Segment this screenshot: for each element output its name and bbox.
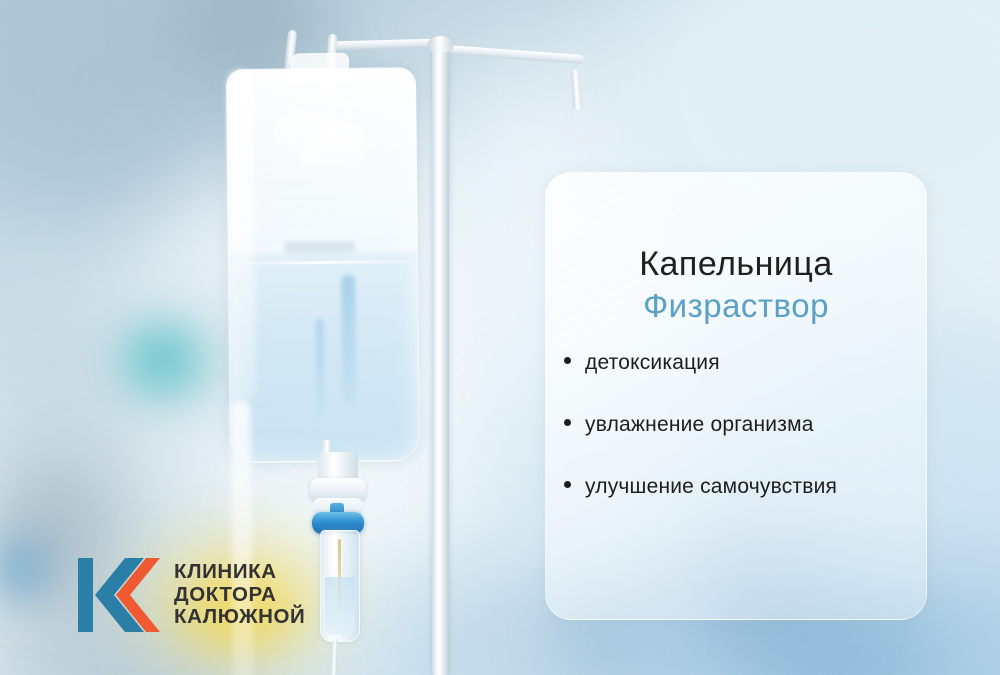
clinic-logo: КЛИНИКА ДОКТОРА КАЛЮЖНОЙ (78, 552, 305, 638)
card-heading-block: Капельница Физраствор (546, 245, 926, 326)
benefit-label: улучшение самочувствия (585, 475, 837, 499)
logo-line-1: КЛИНИКА (174, 561, 305, 584)
iv-bag-blue-streak-2 (316, 319, 325, 419)
list-item: увлажнение организма (558, 413, 926, 475)
logo-wordmark: КЛИНИКА ДОКТОРА КАЛЮЖНОЙ (174, 561, 305, 630)
logo-line-2: ДОКТОРА (174, 584, 305, 607)
iv-bag-highlight-left (227, 70, 256, 400)
bg-blob-blue-dot (0, 540, 44, 596)
benefits-list: детоксикация увлажнение организма улучше… (546, 351, 926, 537)
promo-banner: Капельница Физраствор детоксикация увлаж… (0, 0, 1000, 675)
iv-drip-fluid (325, 577, 355, 635)
bullet-dot-icon (564, 357, 571, 364)
iv-stand-pole (432, 40, 449, 675)
iv-bag-label-print (285, 241, 355, 254)
logo-line-3: КАЛЮЖНОЙ (174, 606, 305, 629)
list-item: детоксикация (558, 351, 926, 413)
iv-fluid-bag (226, 67, 420, 463)
card-title: Капельница (546, 245, 926, 284)
bullet-dot-icon (564, 419, 571, 426)
benefit-label: детоксикация (585, 351, 720, 375)
iv-bag-blue-streak (341, 275, 356, 405)
iv-stand-collar (428, 36, 453, 52)
logo-k-mark-icon (78, 552, 160, 638)
list-item: улучшение самочувствия (558, 475, 926, 537)
iv-bag-fluid-level (232, 260, 414, 265)
bg-blob-teal-dot (130, 330, 196, 388)
bullet-dot-icon (564, 481, 571, 488)
iv-drip-chamber (320, 530, 360, 642)
info-card: Капельница Физраствор детоксикация увлаж… (545, 172, 927, 620)
card-subtitle: Физраствор (546, 286, 926, 326)
benefit-label: увлажнение организма (585, 413, 814, 437)
